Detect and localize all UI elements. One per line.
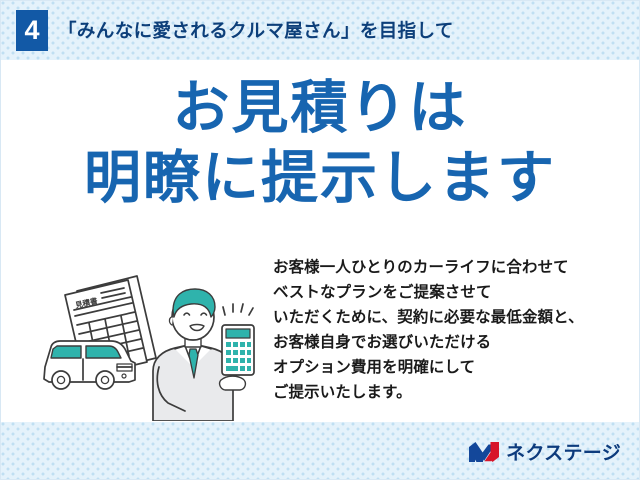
body-copy-line: いただくために、契約に必要な最低金額と、	[273, 306, 584, 331]
header-title: 「みんなに愛されるクルマ屋さん」を目指して	[58, 17, 454, 43]
headline: お見積りは 明瞭に提示します	[1, 80, 639, 207]
calculator-icon	[222, 325, 254, 375]
salesman-quotation-van-illustration: 見積書	[25, 263, 275, 421]
van-illustration	[44, 341, 135, 389]
body-copy-line: オプション費用を明確にして	[273, 356, 584, 381]
headline-line-2: 明瞭に提示します	[1, 150, 639, 207]
body-copy-line: お客様自身でお選びいただける	[273, 331, 584, 356]
body-copy-line: お客様一人ひとりのカーライフに合わせて	[273, 256, 584, 281]
brand-wordmark: ネクステージ	[506, 438, 621, 465]
sparkle-icon	[223, 304, 253, 315]
brand-logo: ネクステージ	[469, 438, 621, 465]
body-copy: お客様一人ひとりのカーライフに合わせて ベストなプランをご提案させて いただくた…	[273, 256, 584, 406]
body-copy-line: ご提示いたします。	[273, 381, 584, 406]
banner-root: 4 「みんなに愛されるクルマ屋さん」を目指して お見積りは 明瞭に提示します お…	[0, 0, 640, 480]
nextage-n-logo-icon	[469, 441, 499, 463]
headline-line-1: お見積りは	[1, 80, 639, 137]
step-number-badge: 4	[16, 10, 48, 51]
body-copy-line: ベストなプランをご提案させて	[273, 281, 584, 306]
